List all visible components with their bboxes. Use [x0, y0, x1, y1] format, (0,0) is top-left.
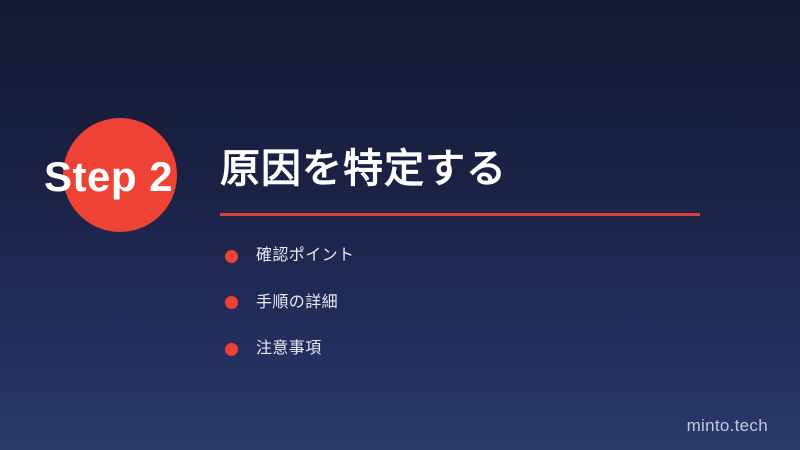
step-number-label: Step 2 [44, 152, 173, 202]
bullet-list: 確認ポイント 手順の詳細 注意事項 [220, 233, 700, 373]
bullet-dot-icon [225, 250, 238, 263]
list-item-label: 注意事項 [256, 339, 322, 359]
bullet-dot-icon [225, 296, 238, 309]
list-item-label: 手順の詳細 [256, 293, 338, 313]
footer-brand-watermark: minto.tech [687, 416, 768, 436]
title-block: 原因を特定する [220, 143, 720, 195]
presentation-slide: Step 2 原因を特定する 確認ポイント 手順の詳細 注意事項 minto.t… [0, 0, 800, 450]
list-item: 確認ポイント [220, 233, 700, 280]
page-title: 原因を特定する [220, 143, 720, 195]
title-divider [220, 213, 700, 216]
list-item: 手順の詳細 [220, 280, 700, 327]
bullet-dot-icon [225, 343, 238, 356]
list-item-label: 確認ポイント [256, 246, 354, 266]
list-item: 注意事項 [220, 326, 700, 373]
